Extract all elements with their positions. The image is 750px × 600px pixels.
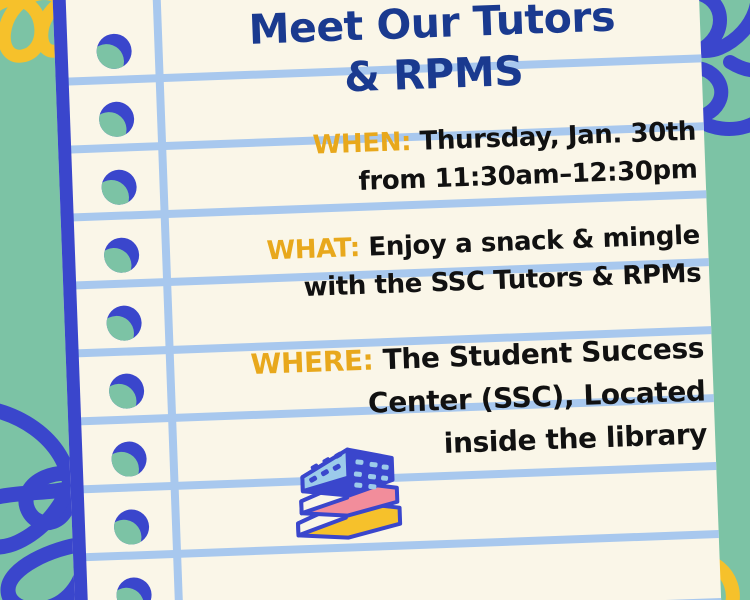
when-label: WHEN: xyxy=(312,127,411,161)
notebook-page: Meet Our Tutors & RPMS WHEN: Thursday, J… xyxy=(52,0,722,600)
punch-hole xyxy=(111,441,147,477)
where-label: WHERE: xyxy=(250,344,374,381)
detail-block-where: WHERE: The Student Success Center (SSC),… xyxy=(183,326,707,474)
page-surface: Meet Our Tutors & RPMS WHEN: Thursday, J… xyxy=(52,0,722,600)
punch-hole xyxy=(106,305,142,341)
when-value-line-1: Thursday, Jan. 30th xyxy=(419,117,696,157)
poster-canvas: Meet Our Tutors & RPMS WHEN: Thursday, J… xyxy=(0,0,750,600)
poster-content: Meet Our Tutors & RPMS WHEN: Thursday, J… xyxy=(171,0,713,600)
stack-of-books-icon xyxy=(285,435,411,551)
where-value-line-3: inside the library xyxy=(443,417,707,460)
where-value-line-2: Center (SSC), Located xyxy=(367,374,706,419)
where-value-line-1: The Student Success xyxy=(382,331,704,376)
punch-hole xyxy=(98,101,134,137)
punch-hole xyxy=(113,509,149,545)
punch-hole xyxy=(101,169,137,205)
punch-hole xyxy=(116,577,152,600)
what-label: WHAT: xyxy=(266,233,360,266)
punch-hole xyxy=(96,33,132,69)
punch-hole xyxy=(103,237,139,273)
punch-hole xyxy=(108,373,144,409)
